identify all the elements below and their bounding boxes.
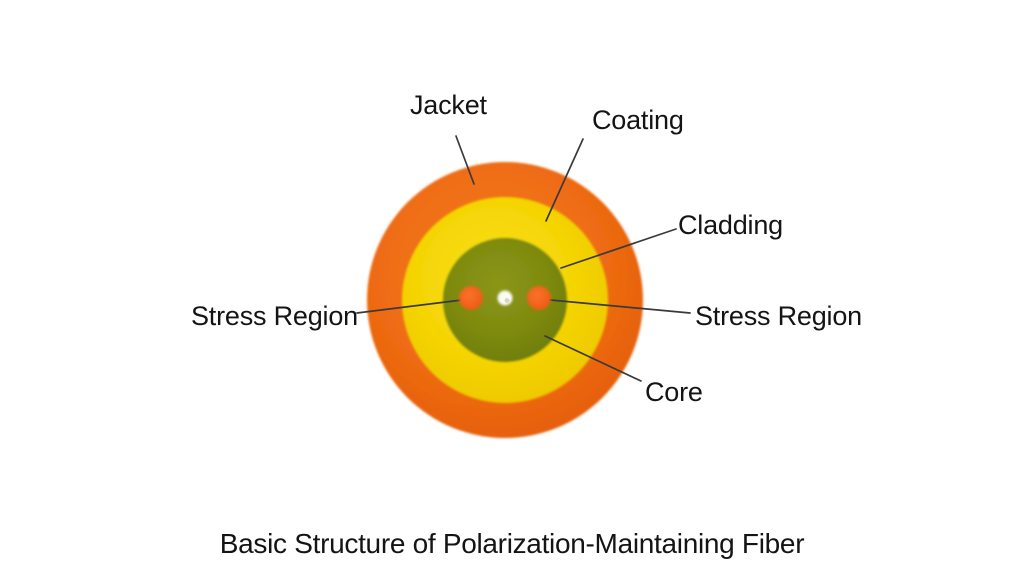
label-core: Core	[645, 377, 703, 408]
core-dot	[498, 291, 513, 306]
core-dot-inner-shadow	[505, 298, 510, 303]
label-jacket: Jacket	[410, 90, 487, 121]
stress-region-left-dot	[459, 286, 483, 310]
stress-region-right-dot	[527, 286, 551, 310]
label-coating: Coating	[592, 105, 684, 136]
label-stress-region-right: Stress Region	[695, 301, 862, 332]
label-cladding: Cladding	[678, 210, 783, 241]
fiber-cross-section-diagram: Jacket Coating Cladding Stress Region St…	[0, 0, 1024, 576]
label-stress-region-left: Stress Region	[191, 301, 358, 332]
diagram-caption: Basic Structure of Polarization-Maintain…	[0, 528, 1024, 560]
fiber-diagram-svg	[0, 0, 1024, 576]
